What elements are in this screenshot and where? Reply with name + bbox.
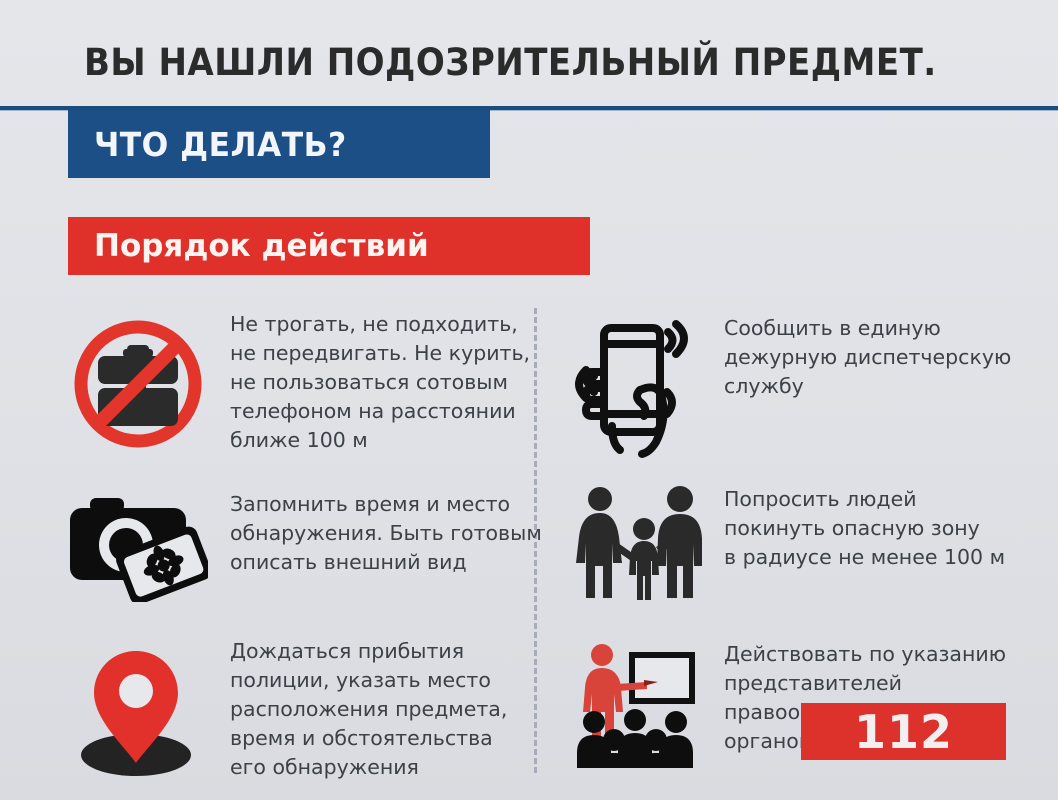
camera-photo-icon: [68, 490, 208, 602]
presenter-audience-icon: [572, 640, 702, 768]
page-title: ВЫ НАШЛИ ПОДОЗРИТЕЛЬНЫЙ ПРЕДМЕТ.: [84, 41, 937, 84]
map-pin-icon: [68, 637, 208, 777]
action-item-text: Сообщить в единую дежурную диспетчерскую…: [724, 314, 1011, 401]
action-item-no-touch: Не трогать, не подходить, не передвигать…: [68, 310, 530, 458]
action-item-text: Не трогать, не подходить, не передвигать…: [230, 310, 530, 455]
order-of-actions-banner: Порядок действий: [68, 217, 590, 275]
emergency-number-label: 112: [854, 709, 953, 755]
hand-holding-phone-icon: [572, 314, 702, 462]
no-briefcase-icon: [68, 310, 208, 458]
action-item-remember-time-place: Запомнить время и место обнаружения. Быт…: [68, 490, 542, 602]
what-to-do-banner-label: ЧТО ДЕЛАТЬ?: [94, 125, 347, 164]
emergency-number-badge: 112: [801, 703, 1006, 760]
family-group-icon: [572, 485, 702, 600]
action-item-call-112: Сообщить в единую дежурную диспетчерскую…: [572, 314, 1011, 462]
action-item-text: Попросить людей покинуть опасную зону в …: [724, 485, 1005, 572]
infographic-poster: ВЫ НАШЛИ ПОДОЗРИТЕЛЬНЫЙ ПРЕДМЕТ. ЧТО ДЕЛ…: [0, 0, 1058, 800]
action-item-evacuate-people: Попросить людей покинуть опасную зону в …: [572, 485, 1005, 600]
what-to-do-banner: ЧТО ДЕЛАТЬ?: [68, 110, 490, 178]
actions-grid: Не трогать, не подходить, не передвигать…: [0, 300, 1058, 790]
action-item-text: Дождаться прибытия полиции, указать мест…: [230, 637, 507, 782]
action-item-text: Запомнить время и место обнаружения. Быт…: [230, 490, 542, 577]
order-of-actions-banner-label: Порядок действий: [94, 228, 429, 264]
action-item-wait-police: Дождаться прибытия полиции, указать мест…: [68, 637, 507, 782]
